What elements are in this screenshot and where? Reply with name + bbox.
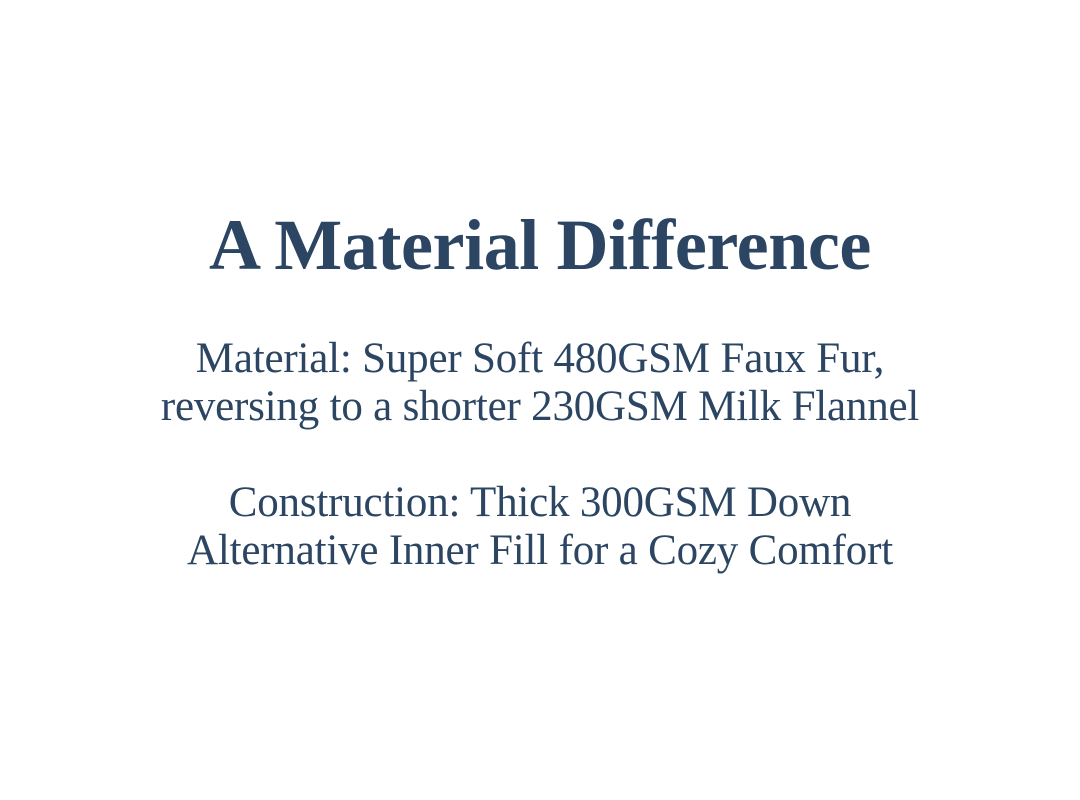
spec-list: Material: Super Soft 480GSM Faux Fur, re… bbox=[30, 335, 1050, 575]
construction-spec-line-1: Construction: Thick 300GSM Down bbox=[30, 479, 1050, 527]
material-spec-line-2: reversing to a shorter 230GSM Milk Flann… bbox=[30, 383, 1050, 431]
material-spec-paragraph: Material: Super Soft 480GSM Faux Fur, re… bbox=[30, 335, 1050, 431]
slide-canvas: A Material Difference Material: Super So… bbox=[0, 0, 1080, 800]
construction-spec-line-2: Alternative Inner Fill for a Cozy Comfor… bbox=[30, 527, 1050, 575]
material-spec-line-1: Material: Super Soft 480GSM Faux Fur, bbox=[30, 335, 1050, 383]
page-title: A Material Difference bbox=[30, 0, 1050, 283]
content-block: A Material Difference Material: Super So… bbox=[30, 0, 1050, 575]
construction-spec-paragraph: Construction: Thick 300GSM Down Alternat… bbox=[30, 479, 1050, 575]
